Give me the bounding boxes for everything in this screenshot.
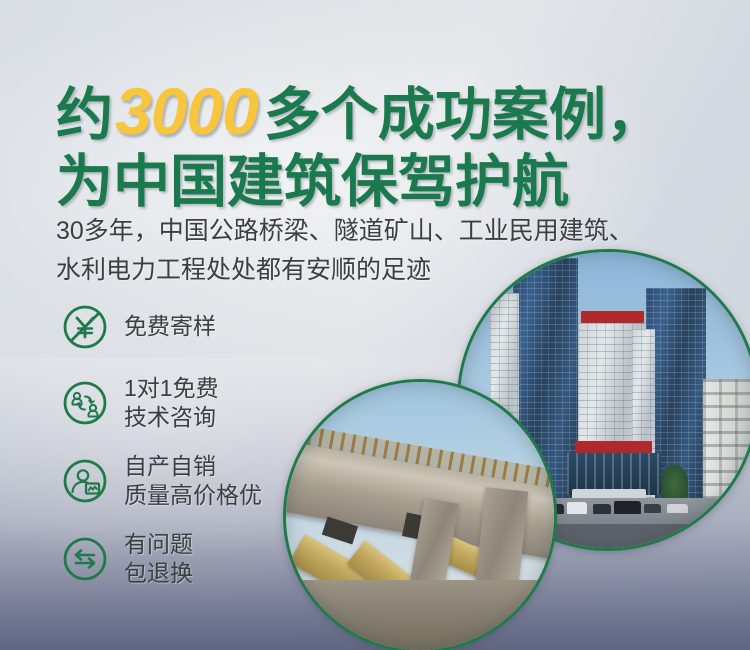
building-roof-sign (581, 311, 643, 323)
building-adjacent-white (703, 379, 750, 503)
subtitle: 30多年，中国公路桥梁、隧道矿山、工业民用建筑、 水利电力工程处处都有安顺的足迹 (56, 212, 634, 290)
building-entrance-sign (575, 441, 652, 453)
building-car (614, 501, 641, 515)
feature-label-line: 有问题 (124, 530, 193, 559)
feature-item-consulting[interactable]: 1对1免费 技术咨询 (60, 374, 262, 433)
feature-label: 自产自销 质量高价格优 (124, 452, 262, 511)
headline-number: 3000 (113, 74, 264, 148)
feature-label-line: 自产自销 (124, 452, 262, 481)
headline: 约3000多个成功案例， 为中国建筑保驾护航 (56, 78, 663, 211)
headline-prefix: 约 (56, 83, 113, 147)
feature-item-free-sample[interactable]: 免费寄样 (60, 302, 262, 352)
building-car (667, 504, 688, 513)
headline-line-1: 约3000多个成功案例， (56, 78, 663, 144)
feature-label-line: 1对1免费 (124, 374, 219, 403)
free-sample-icon (60, 302, 110, 352)
one-on-one-consult-icon (60, 378, 110, 428)
bridge-photo (283, 379, 557, 650)
feature-item-self-produce[interactable]: 自产自销 质量高价格优 (60, 452, 262, 511)
bridge-ground-rubble (286, 580, 554, 650)
feature-label: 有问题 包退换 (124, 530, 193, 589)
return-exchange-icon (60, 534, 110, 584)
feature-label-line: 技术咨询 (124, 403, 219, 432)
feature-list: 免费寄样 1对1免费 技术咨询 (60, 302, 262, 608)
building-car (567, 502, 588, 514)
building-car (593, 504, 611, 514)
feature-label-line: 免费寄样 (124, 312, 216, 341)
subtitle-line-2: 水利电力工程处处都有安顺的足迹 (56, 251, 634, 290)
subtitle-line-1: 30多年，中国公路桥梁、隧道矿山、工业民用建筑、 (56, 212, 634, 251)
headline-line-2: 为中国建筑保驾护航 (56, 154, 663, 211)
feature-label-line: 包退换 (124, 559, 193, 588)
feature-label-line: 质量高价格优 (124, 481, 262, 510)
headline-suffix: 多个成功案例， (264, 83, 663, 147)
feature-label: 免费寄样 (124, 312, 216, 341)
feature-item-return-exchange[interactable]: 有问题 包退换 (60, 530, 262, 589)
building-car (644, 504, 662, 513)
self-produce-sell-icon (60, 456, 110, 506)
promo-banner: 约3000多个成功案例， 为中国建筑保驾护航 30多年，中国公路桥梁、隧道矿山、… (0, 0, 750, 650)
feature-label: 1对1免费 技术咨询 (124, 374, 219, 433)
